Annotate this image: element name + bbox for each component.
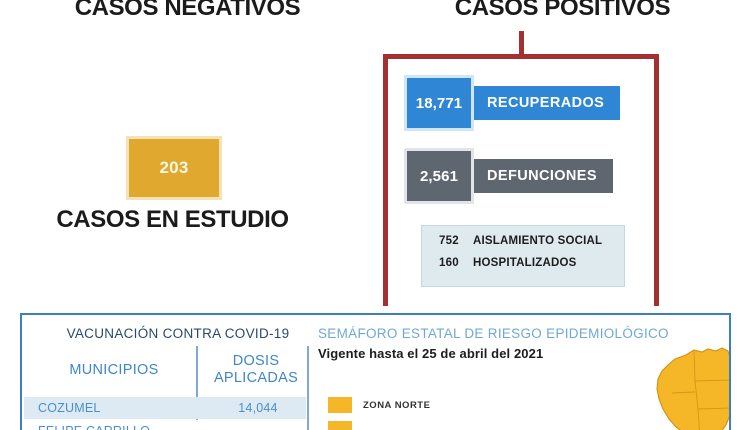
legend-item-secondary [328, 421, 363, 430]
table-column-divider-right [307, 346, 309, 430]
vacunacion-title: VACUNACIÓN CONTRA COVID-19 [38, 326, 318, 341]
column-header-dosis-aplicadas: DOSIS APLICADAS [208, 353, 304, 387]
recuperados-value: 18,771 [404, 75, 474, 131]
hospitalizados-value: 160 [439, 257, 469, 269]
column-header-municipios: MUNICIPIOS [34, 362, 194, 379]
quintana-roo-map-icon [642, 341, 731, 430]
bottom-info-panel: VACUNACIÓN CONTRA COVID-19 MUNICIPIOS DO… [20, 313, 731, 430]
column-header-dosis-line2: APLICADAS [208, 370, 304, 387]
heading-casos-en-estudio: CASOS EN ESTUDIO [0, 206, 345, 234]
semaforo-vigencia: Vigente hasta el 25 de abril del 2021 [318, 346, 543, 361]
legend-swatch-icon [328, 421, 352, 430]
infographic-canvas: CASOS NEGATIVOS CASOS POSITIVOS CASOS EN… [0, 0, 750, 430]
heading-casos-positivos: CASOS POSITIVOS [375, 0, 750, 22]
casos-en-estudio-box: 203 [126, 136, 222, 200]
stat-row-defunciones: 2,561 DEFUNCIONES [404, 148, 613, 204]
legend-label: ZONA NORTE [363, 400, 430, 411]
column-header-dosis-line1: DOSIS [208, 353, 304, 370]
sub-stat-aislamiento-social: 752 AISLAMIENTO SOCIAL [439, 235, 624, 247]
aislamiento-social-label: AISLAMIENTO SOCIAL [473, 235, 602, 247]
table-row: COZUMEL 14,044 [24, 397, 306, 419]
defunciones-value: 2,561 [404, 148, 474, 204]
table-cell-municipio: COZUMEL [38, 401, 101, 415]
table-cell-municipio: FELIPE CARRILLO [38, 424, 150, 430]
aislamiento-social-value: 752 [439, 235, 469, 247]
semaforo-title: SEMÁFORO ESTATAL DE RIESGO EPIDEMIOLÓGIC… [318, 326, 669, 341]
table-cell-dosis: 14,044 [210, 401, 306, 415]
heading-casos-negativos: CASOS NEGATIVOS [0, 0, 375, 22]
legend-swatch-icon [328, 397, 352, 413]
defunciones-label: DEFUNCIONES [471, 159, 613, 193]
legend-item-zona-norte: ZONA NORTE [328, 397, 430, 413]
sub-stat-hospitalizados: 160 HOSPITALIZADOS [439, 257, 624, 269]
hospitalizados-label: HOSPITALIZADOS [473, 257, 577, 269]
stat-row-recuperados: 18,771 RECUPERADOS [404, 75, 620, 131]
casos-activos-subbox: 752 AISLAMIENTO SOCIAL 160 HOSPITALIZADO… [421, 225, 625, 287]
casos-en-estudio-value: 203 [160, 158, 189, 178]
table-row: FELIPE CARRILLO [24, 420, 306, 430]
recuperados-label: RECUPERADOS [471, 86, 620, 120]
